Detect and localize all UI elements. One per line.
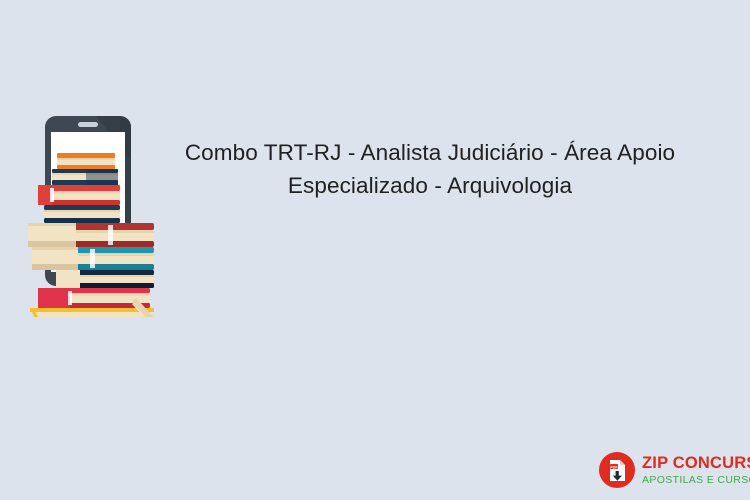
logo-secondary-text: APOSTILAS E CURSOS <box>642 475 750 486</box>
book-orange-top <box>57 153 115 169</box>
book-dark-blue <box>44 205 120 223</box>
book-red <box>38 185 120 205</box>
logo-primary-text: ZIP CONCURSOS <box>642 455 750 472</box>
svg-text:PDF: PDF <box>610 465 618 469</box>
title-block: Combo TRT-RJ - Analista Judiciário - Áre… <box>170 136 690 202</box>
page-title: Combo TRT-RJ - Analista Judiciário - Áre… <box>170 136 690 202</box>
book-maroon <box>28 223 154 247</box>
book-stack-illustration <box>12 112 172 317</box>
pdf-download-icon: PDF <box>598 451 636 489</box>
product-banner: Combo TRT-RJ - Analista Judiciário - Áre… <box>0 0 750 500</box>
book-navy <box>52 169 118 185</box>
book-teal <box>32 247 154 270</box>
book-midnight <box>56 270 154 288</box>
logo-text-block: ZIP CONCURSOS APOSTILAS E CURSOS <box>642 455 750 485</box>
brand-logo[interactable]: PDF ZIP CONCURSOS APOSTILAS E CURSOS <box>598 448 743 492</box>
